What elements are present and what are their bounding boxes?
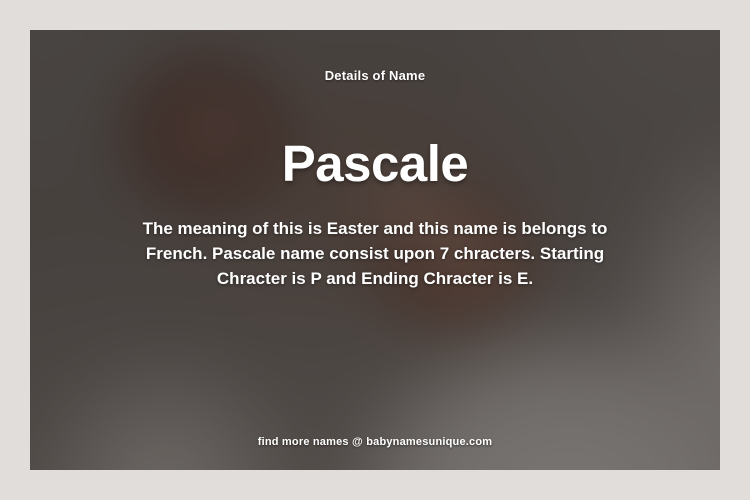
name-details-card: Details of Name Pascale The meaning of t… bbox=[30, 30, 720, 470]
footer-site-link[interactable]: babynamesunique.com bbox=[366, 436, 492, 448]
card-kicker: Details of Name bbox=[30, 68, 720, 83]
footer-prefix: find more names @ bbox=[258, 436, 363, 448]
card-content: Details of Name Pascale The meaning of t… bbox=[30, 30, 720, 470]
page-title: Pascale bbox=[30, 138, 720, 189]
footer: find more names @ babynamesunique.com bbox=[30, 436, 720, 448]
name-description: The meaning of this is Easter and this n… bbox=[125, 216, 625, 291]
